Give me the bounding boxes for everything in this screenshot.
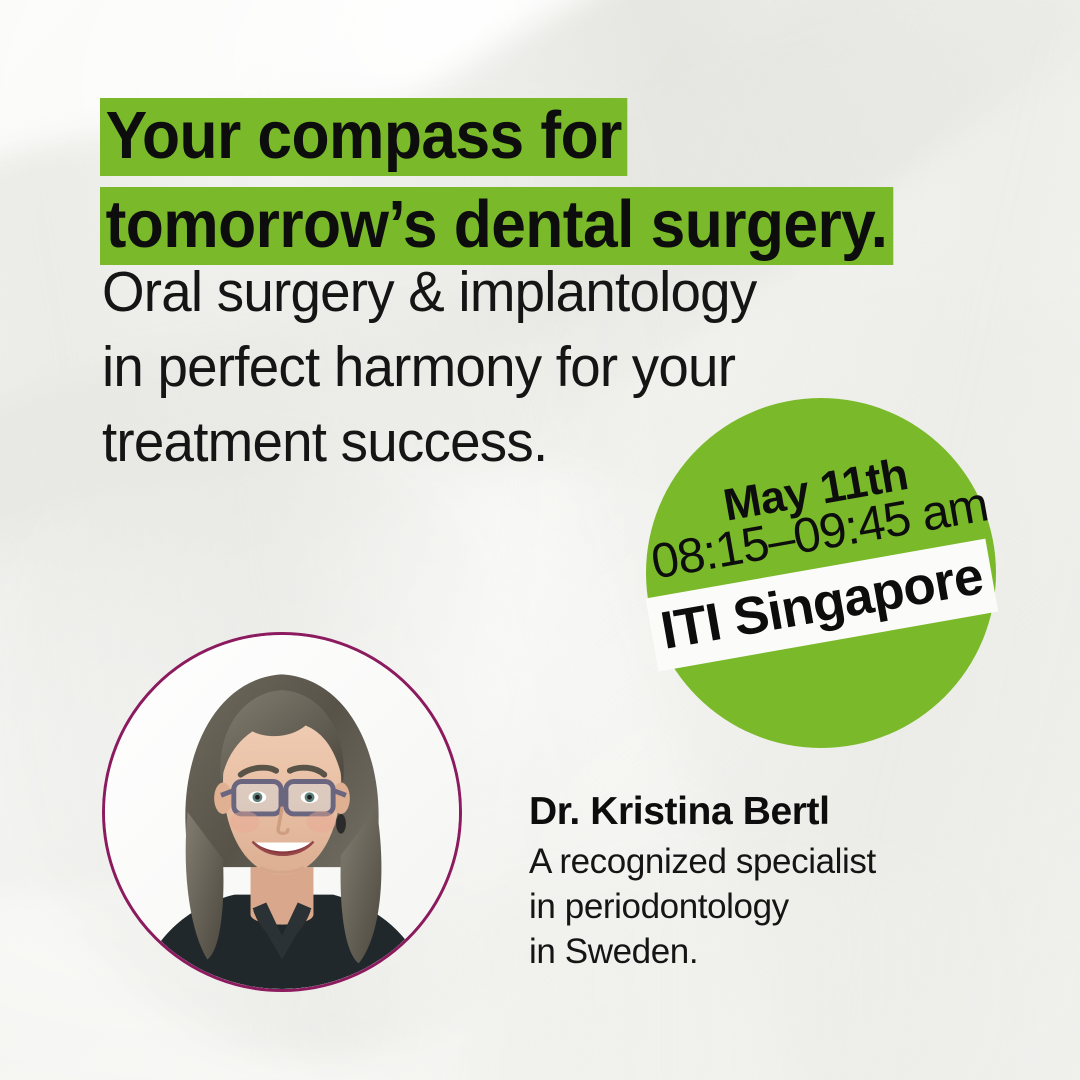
portrait-photo [105,635,459,989]
event-promo-poster: Your compass for tomorrow’s dental surge… [0,0,1080,1080]
headline: Your compass for tomorrow’s dental surge… [100,98,1020,276]
speaker-name: Dr. Kristina Bertl [529,789,969,835]
subheadline-line-2: in perfect harmony for your [102,330,851,405]
speaker-portrait [102,632,462,992]
speaker-bio: A recognized specialist in periodontolog… [529,839,969,974]
headline-highlight-2: tomorrow’s dental surgery. [100,187,893,265]
headline-line-2: tomorrow’s dental surgery. [100,187,1020,265]
headline-line-1: Your compass for [100,98,1020,176]
speaker-bio-line-3: in Sweden. [529,929,969,974]
headline-highlight-1: Your compass for [100,98,627,176]
speaker-bio-line-1: A recognized specialist [529,839,969,884]
event-details: May 11th 08:15–09:45 am ITI Singapore [646,398,996,748]
speaker-bio-line-2: in periodontology [529,884,969,929]
speaker-info: Dr. Kristina Bertl A recognized speciali… [529,789,969,974]
subheadline-line-1: Oral surgery & implantology [102,255,851,330]
